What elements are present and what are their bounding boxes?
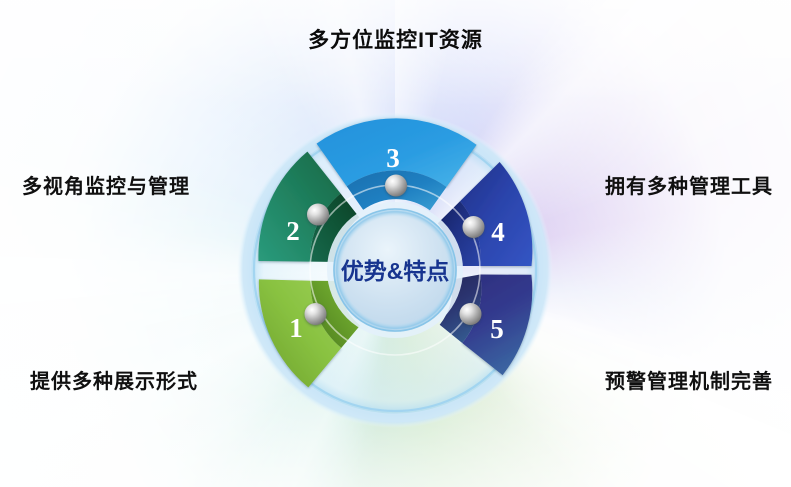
label-bottom-left: 提供多种展示形式 <box>30 365 198 394</box>
bead-marker-2[interactable] <box>307 204 329 226</box>
segment-number-2: 2 <box>286 216 300 246</box>
segment-number-5: 5 <box>490 314 504 344</box>
diagram-canvas: 3 2 1 4 5 优势&特点 多方位监控IT资源 多视角监控与管理 提供多种展… <box>0 0 791 487</box>
bead-marker-5[interactable] <box>460 303 482 325</box>
segment-number-4: 4 <box>491 217 505 247</box>
center-label: 优势&特点 <box>341 258 450 284</box>
label-top-right: 拥有多种管理工具 <box>605 170 773 199</box>
segment-number-3: 3 <box>386 143 400 173</box>
bead-marker-1[interactable] <box>305 303 327 325</box>
segment-number-1: 1 <box>289 313 303 343</box>
bead-marker-3[interactable] <box>385 175 407 197</box>
bead-marker-4[interactable] <box>463 216 485 238</box>
title-top: 多方位监控IT资源 <box>0 24 791 54</box>
radial-wheel-graphic: 3 2 1 4 5 优势&特点 <box>0 0 791 487</box>
label-bottom-right: 预警管理机制完善 <box>605 365 773 394</box>
label-top-left: 多视角监控与管理 <box>22 170 190 199</box>
